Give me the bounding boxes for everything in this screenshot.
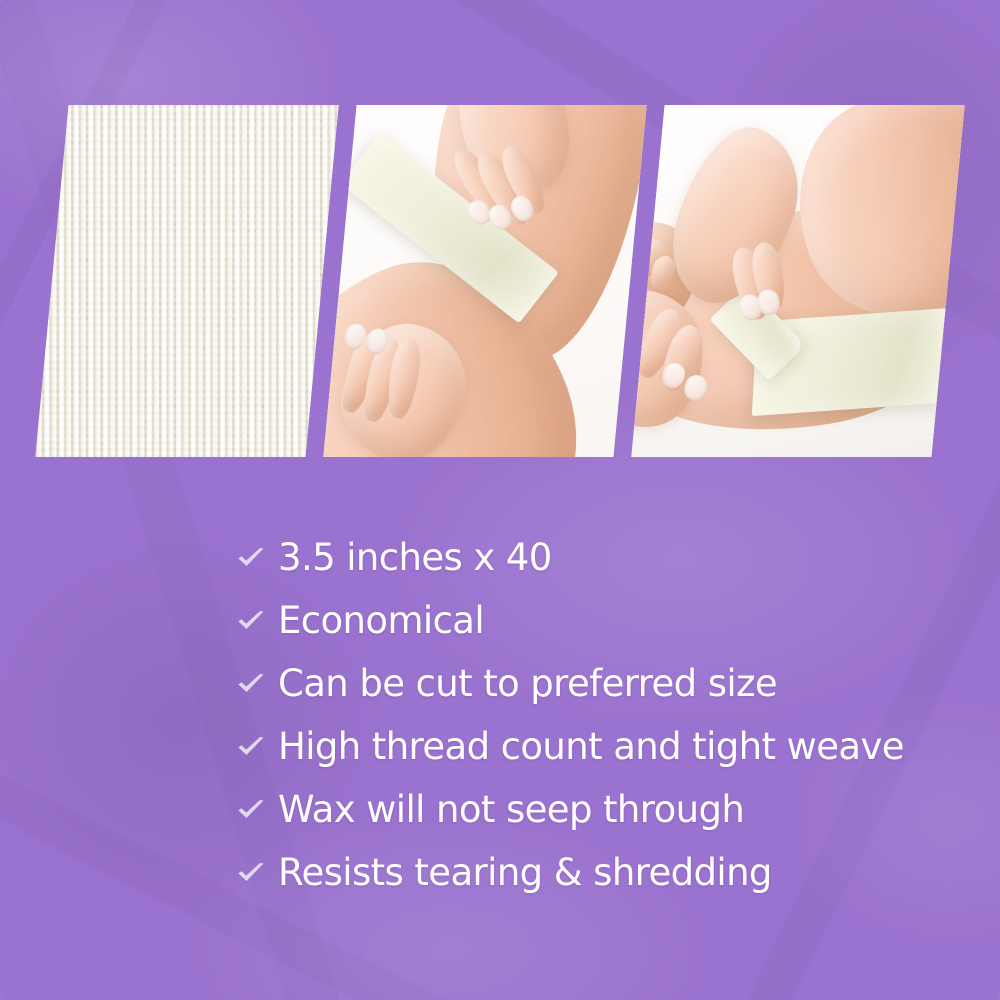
check-icon — [236, 734, 278, 760]
check-icon — [236, 797, 278, 823]
list-item-label: High thread count and tight weave — [278, 728, 904, 765]
fabric-weave-texture — [35, 105, 338, 457]
gallery-image-fabric-weave — [35, 105, 338, 457]
list-item-label: Wax will not seep through — [278, 791, 744, 828]
check-icon — [236, 671, 278, 697]
list-item: Resists tearing & shredding — [236, 841, 956, 904]
list-item-label: 3.5 inches x 40 — [278, 539, 552, 576]
list-item: Economical — [236, 589, 956, 652]
feature-list: 3.5 inches x 40 Economical Can be cut to… — [236, 526, 956, 904]
list-item-label: Economical — [278, 602, 484, 639]
gallery-image-removing-strip — [631, 105, 964, 457]
check-icon — [236, 860, 278, 886]
gallery-image-applying-strip — [323, 105, 646, 457]
list-item-label: Can be cut to preferred size — [278, 665, 777, 702]
list-item-label: Resists tearing & shredding — [278, 854, 772, 891]
product-image-gallery — [0, 0, 1000, 470]
list-item: High thread count and tight weave — [236, 715, 956, 778]
list-item: Can be cut to preferred size — [236, 652, 956, 715]
check-icon — [236, 608, 278, 634]
list-item: 3.5 inches x 40 — [236, 526, 956, 589]
check-icon — [236, 545, 278, 571]
list-item: Wax will not seep through — [236, 778, 956, 841]
product-feature-poster: 3.5 inches x 40 Economical Can be cut to… — [0, 0, 1000, 1000]
